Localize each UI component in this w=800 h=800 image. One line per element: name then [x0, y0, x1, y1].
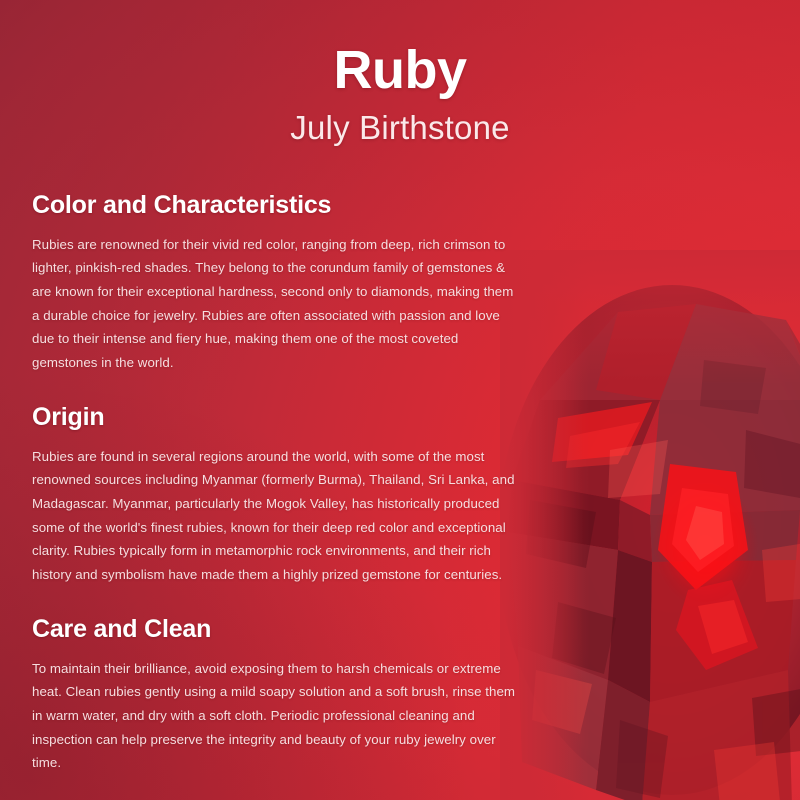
section-care-and-clean: Care and Clean To maintain their brillia…	[32, 615, 535, 775]
section-heading: Color and Characteristics	[32, 191, 535, 220]
sections-list: Color and Characteristics Rubies are ren…	[0, 191, 535, 775]
ruby-infographic-poster: Ruby July Birthstone Color and Character…	[0, 0, 800, 800]
poster-header: Ruby July Birthstone	[0, 0, 800, 147]
section-body: Rubies are renowned for their vivid red …	[32, 233, 522, 375]
poster-content: Ruby July Birthstone Color and Character…	[0, 0, 800, 775]
page-subtitle: July Birthstone	[0, 109, 800, 147]
section-body: Rubies are found in several regions arou…	[32, 445, 522, 587]
section-color-and-characteristics: Color and Characteristics Rubies are ren…	[32, 191, 535, 375]
page-title: Ruby	[0, 42, 800, 99]
section-body: To maintain their brilliance, avoid expo…	[32, 657, 522, 775]
section-origin: Origin Rubies are found in several regio…	[32, 403, 535, 587]
section-heading: Origin	[32, 403, 535, 432]
section-heading: Care and Clean	[32, 615, 535, 644]
